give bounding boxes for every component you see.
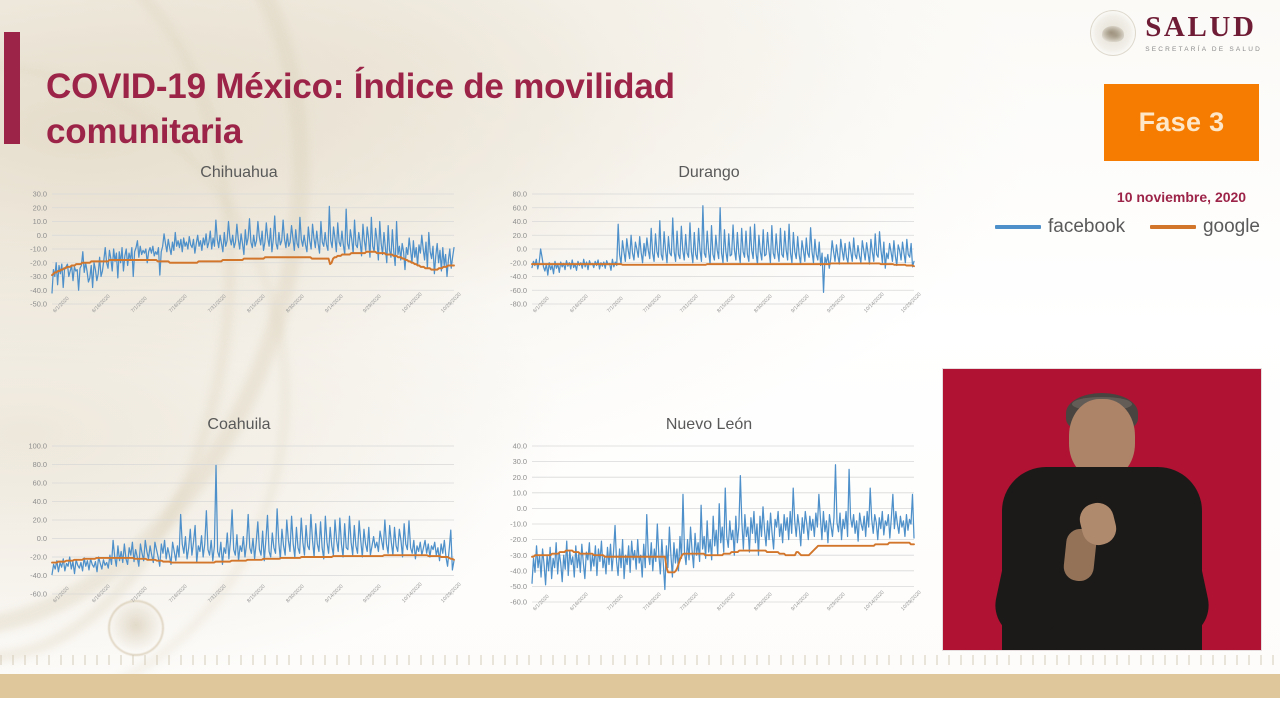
y-tick-label: -80.0 xyxy=(510,300,527,309)
y-tick-label: 20.0 xyxy=(513,473,527,482)
y-tick-label: -10.0 xyxy=(510,520,527,529)
chart-coahuila: Coahuila 100.080.060.040.020.00.0-20.0-4… xyxy=(8,416,458,646)
y-tick-label: -20.0 xyxy=(30,258,47,267)
y-tick-label: -60.0 xyxy=(30,590,47,599)
legend-swatch-google xyxy=(1150,225,1196,229)
y-tick-label: -10.0 xyxy=(30,245,47,254)
charts-grid: Chihuahua 30.020.010.00.0-10.0-20.0-30.0… xyxy=(0,160,930,660)
phase-badge-label: Fase 3 xyxy=(1139,107,1225,138)
chart-title: Coahuila xyxy=(8,416,458,434)
x-axis-labels: 6/1/20206/16/20207/1/20207/16/20207/31/2… xyxy=(532,608,914,648)
slide-date: 10 noviembre, 2020 xyxy=(1104,189,1259,205)
plot-area: 100.080.060.040.020.00.0-20.0-40.0-60.0 xyxy=(8,440,458,600)
series-line-google xyxy=(532,263,914,266)
y-tick-label: -30.0 xyxy=(510,551,527,560)
y-tick-label: 40.0 xyxy=(513,442,527,451)
plot-svg: 80.060.040.020.00.0-20.0-40.0-60.0-80.0 xyxy=(488,188,918,310)
x-axis-labels: 6/1/20206/16/20207/1/20207/16/20207/31/2… xyxy=(52,310,454,350)
y-tick-label: 30.0 xyxy=(33,190,47,199)
y-tick-label: -20.0 xyxy=(30,553,47,562)
y-tick-label: -20.0 xyxy=(510,535,527,544)
y-tick-label: -40.0 xyxy=(30,571,47,580)
page-title: COVID-19 México: Índice de movilidad com… xyxy=(46,65,846,155)
legend-label-facebook: facebook xyxy=(1048,216,1125,238)
y-tick-label: -40.0 xyxy=(30,286,47,295)
legend-swatch-facebook xyxy=(995,225,1041,229)
y-tick-label: 60.0 xyxy=(513,203,527,212)
y-tick-label: -60.0 xyxy=(510,598,527,607)
chart-chihuahua: Chihuahua 30.020.010.00.0-10.0-20.0-30.0… xyxy=(8,164,458,359)
y-tick-label: 10.0 xyxy=(33,217,47,226)
salud-subtitle: SECRETARÍA DE SALUD xyxy=(1145,46,1262,53)
y-tick-label: 80.0 xyxy=(513,190,527,199)
y-tick-label: -50.0 xyxy=(30,300,47,309)
y-tick-label: -50.0 xyxy=(510,582,527,591)
y-tick-label: -60.0 xyxy=(510,286,527,295)
chart-nuevo-leon: Nuevo León 40.030.020.010.00.0-10.0-20.0… xyxy=(488,416,918,646)
plot-svg: 100.080.060.040.020.00.0-20.0-40.0-60.0 xyxy=(8,440,458,600)
bottom-band-decoration xyxy=(0,674,1280,698)
y-tick-label: 30.0 xyxy=(513,457,527,466)
presentation-slide: COVID-19 México: Índice de movilidad com… xyxy=(0,0,1280,723)
plot-svg: 40.030.020.010.00.0-10.0-20.0-30.0-40.0-… xyxy=(488,440,918,608)
y-tick-label: 60.0 xyxy=(33,479,47,488)
y-tick-label: 20.0 xyxy=(33,516,47,525)
legend-item-google: google xyxy=(1150,216,1260,238)
title-accent-bar xyxy=(4,32,20,144)
y-tick-label: 80.0 xyxy=(33,460,47,469)
plot-area: 40.030.020.010.00.0-10.0-20.0-30.0-40.0-… xyxy=(488,440,918,608)
plot-svg: 30.020.010.00.0-10.0-20.0-30.0-40.0-50.0 xyxy=(8,188,458,310)
series-line-facebook xyxy=(52,206,454,293)
y-tick-label: 0.0 xyxy=(517,245,527,254)
y-tick-label: 20.0 xyxy=(513,231,527,240)
chart-title: Chihuahua xyxy=(8,164,458,182)
chart-durango: Durango 80.060.040.020.00.0-20.0-40.0-60… xyxy=(488,164,918,359)
plot-area: 30.020.010.00.0-10.0-20.0-30.0-40.0-50.0 xyxy=(8,188,458,310)
phase-badge: Fase 3 xyxy=(1104,84,1259,161)
y-tick-label: 0.0 xyxy=(517,504,527,513)
legend-label-google: google xyxy=(1203,216,1260,238)
bottom-white-strip xyxy=(0,698,1280,723)
chart-title: Nuevo León xyxy=(488,416,918,434)
y-tick-label: -20.0 xyxy=(510,258,527,267)
salud-logo: SALUD SECRETARÍA DE SALUD xyxy=(1090,10,1262,56)
y-tick-label: 20.0 xyxy=(33,203,47,212)
salud-wordmark: SALUD xyxy=(1145,13,1262,42)
sign-language-interpreter-video xyxy=(942,368,1262,651)
y-tick-label: 100.0 xyxy=(29,442,48,451)
x-axis-labels: 6/1/20206/16/20207/1/20207/16/20207/31/2… xyxy=(532,310,914,350)
y-tick-label: -40.0 xyxy=(510,566,527,575)
y-tick-label: -40.0 xyxy=(510,272,527,281)
y-tick-label: 0.0 xyxy=(37,534,47,543)
bottom-fringe-decoration xyxy=(0,655,1280,665)
mexican-eagle-seal-icon xyxy=(1090,10,1136,56)
chart-legend: facebook google xyxy=(995,216,1260,238)
y-tick-label: 40.0 xyxy=(33,497,47,506)
plot-area: 80.060.040.020.00.0-20.0-40.0-60.0-80.0 xyxy=(488,188,918,310)
y-tick-label: 0.0 xyxy=(37,231,47,240)
y-tick-label: 10.0 xyxy=(513,488,527,497)
chart-title: Durango xyxy=(488,164,918,182)
legend-item-facebook: facebook xyxy=(995,216,1125,238)
x-axis-labels: 6/1/20206/16/20207/1/20207/16/20207/31/2… xyxy=(52,600,454,640)
y-tick-label: 40.0 xyxy=(513,217,527,226)
y-tick-label: -30.0 xyxy=(30,272,47,281)
